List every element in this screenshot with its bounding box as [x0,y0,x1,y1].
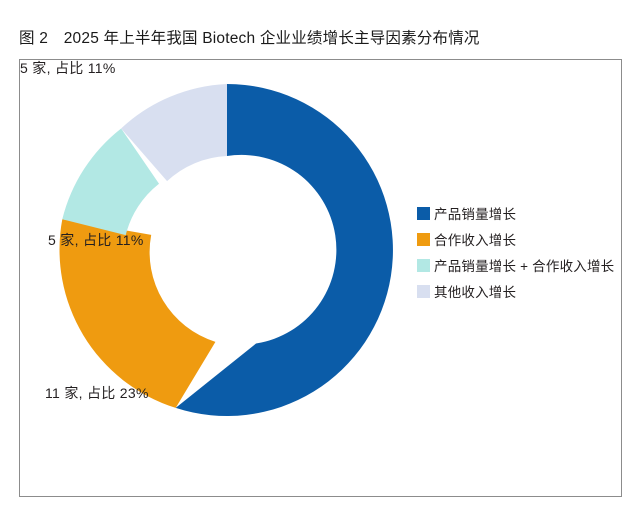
legend-label-3: 其他收入增长 [434,281,516,301]
legend-swatch-blue [417,207,430,220]
legend-item-3[interactable]: 其他收入增长 [417,278,623,304]
legend-swatch-orange [417,233,430,246]
slice-label-mint: 5 家, 占比 11% [48,232,144,249]
legend-label-2: 产品销量增长 + 合作收入增长 [434,255,614,275]
legend-item-0[interactable]: 产品销量增长 [417,200,623,226]
slice-label-orange: 11 家, 占比 23% [45,385,149,402]
slice-label-blue: 26 家, 占比 55% [210,427,315,444]
chart-legend: 产品销量增长 合作收入增长 产品销量增长 + 合作收入增长 其他收入增长 [417,200,623,304]
legend-item-1[interactable]: 合作收入增长 [417,226,623,252]
donut-chart-area: 26 家, 占比 55% 11 家, 占比 23% 5 家, 占比 11% 5 … [20,60,623,498]
legend-label-0: 产品销量增长 [434,203,516,223]
chart-frame: 26 家, 占比 55% 11 家, 占比 23% 5 家, 占比 11% 5 … [19,59,622,497]
figure-title: 图 2 2025 年上半年我国 Biotech 企业业绩增长主导因素分布情况 [19,29,480,49]
legend-swatch-mint [417,259,430,272]
slice-label-lavender: 5 家, 占比 11% [20,60,116,77]
legend-item-2[interactable]: 产品销量增长 + 合作收入增长 [417,252,623,278]
legend-swatch-lavender [417,285,430,298]
donut-chart-svg [57,80,397,420]
legend-label-1: 合作收入增长 [434,229,516,249]
